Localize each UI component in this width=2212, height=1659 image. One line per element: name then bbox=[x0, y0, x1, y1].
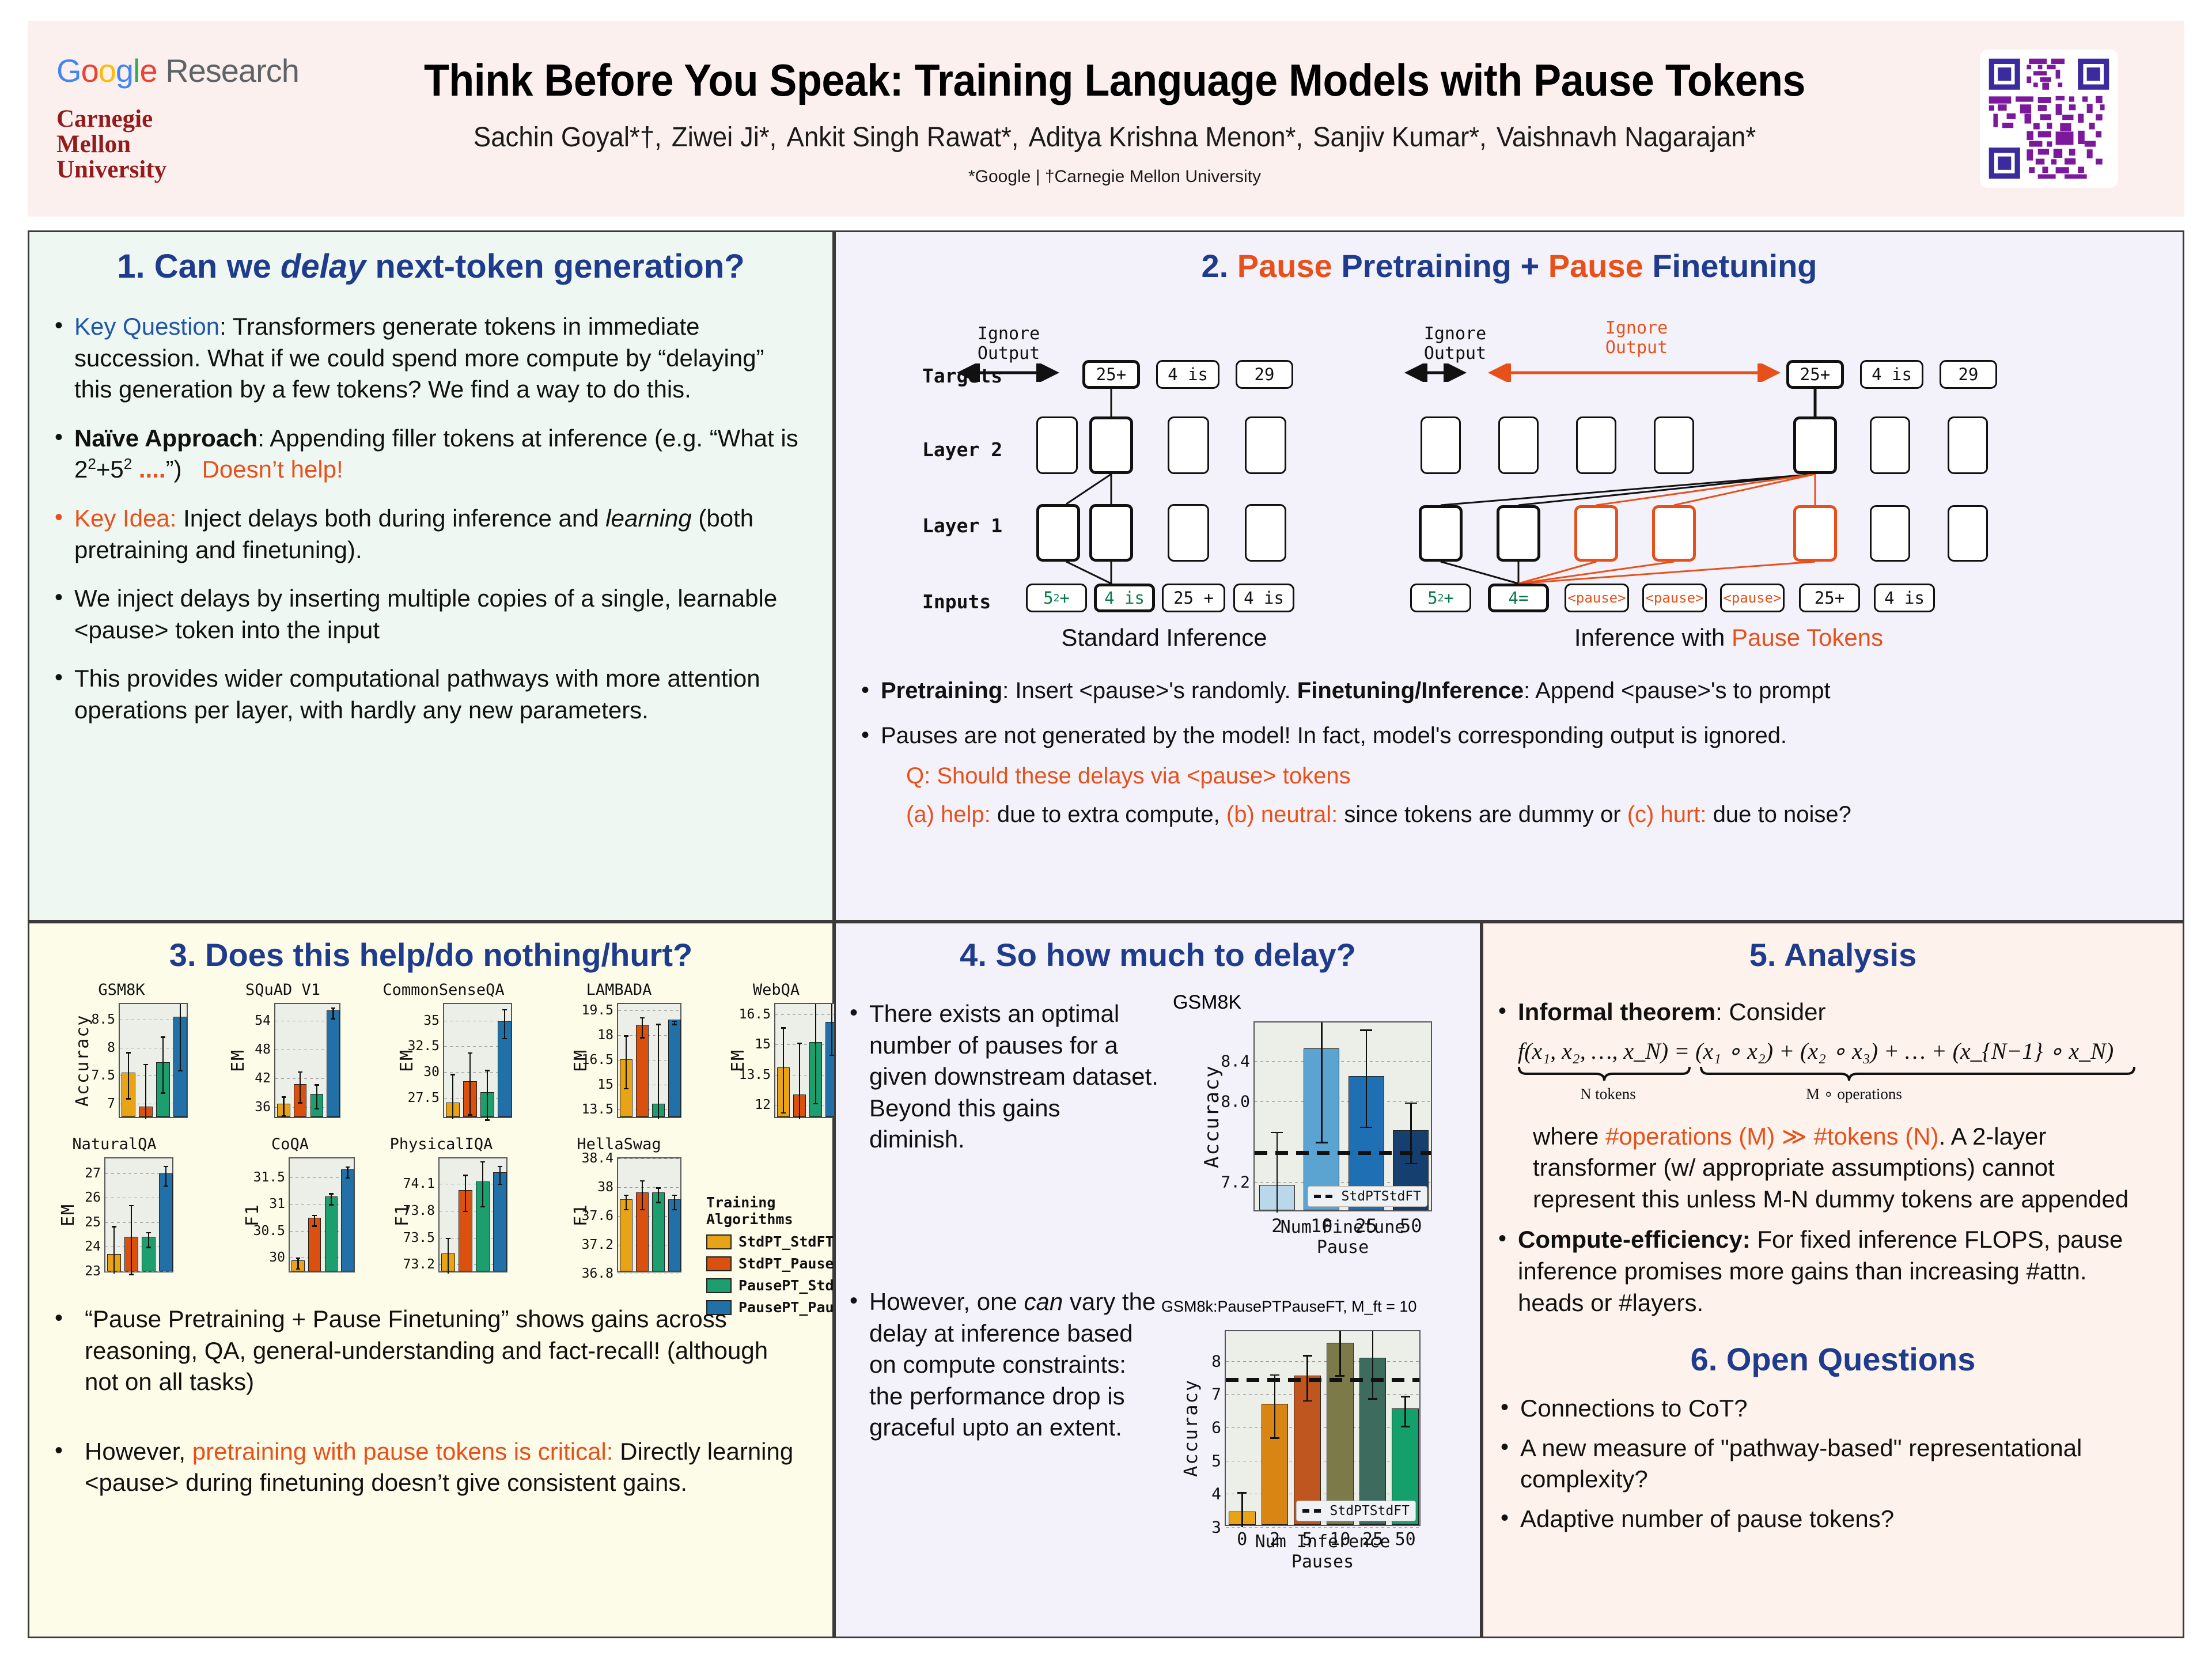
y-axis-tick: 25 bbox=[85, 1215, 101, 1230]
y-axis-label: EM bbox=[397, 1003, 417, 1118]
layer2-cell-active bbox=[1793, 416, 1837, 474]
bullet-dot-icon: • bbox=[55, 583, 74, 646]
y-axis-tick: 8.5 bbox=[91, 1012, 115, 1027]
panel-1-bullets: • Key Question: Transformers generate to… bbox=[29, 311, 832, 726]
bullet-dot-icon: • bbox=[850, 998, 869, 1156]
error-bar bbox=[674, 1195, 676, 1209]
bar bbox=[341, 1169, 354, 1271]
y-axis-tick: 5 bbox=[1211, 1451, 1221, 1470]
legend-swatch bbox=[706, 1278, 732, 1293]
layer1-cell-active bbox=[1497, 505, 1540, 562]
y-axis-tick: 4 bbox=[1211, 1484, 1221, 1503]
error-cap bbox=[672, 1195, 676, 1196]
y-axis-tick: 42 bbox=[255, 1071, 271, 1086]
error-cap bbox=[329, 1204, 334, 1206]
error-bar bbox=[1321, 1022, 1323, 1142]
error-cap bbox=[161, 1092, 165, 1094]
bullet-dot-icon: • bbox=[861, 676, 881, 706]
grid-line bbox=[1255, 1061, 1431, 1062]
chart-plot-area: 345678025102550StdPTStdFT bbox=[1225, 1330, 1421, 1526]
grid-line bbox=[1226, 1361, 1419, 1362]
bar bbox=[652, 1192, 665, 1272]
error-bar bbox=[448, 1238, 449, 1274]
bullet-pre: However, one bbox=[869, 1288, 1024, 1315]
input-token: 52+ bbox=[1026, 584, 1087, 612]
bullet-dot-icon: • bbox=[861, 721, 881, 751]
list-item: • Naïve Approach: Appending filler token… bbox=[55, 423, 807, 486]
chart-title: GSM8k:PausePTPauseFT, M_ft = 10 bbox=[1161, 1298, 1467, 1316]
error-cap bbox=[331, 1018, 336, 1020]
y-axis-tick: 7.2 bbox=[1221, 1173, 1250, 1192]
error-bar bbox=[504, 1009, 506, 1038]
chart-plot-area: 3030.53131.5 bbox=[289, 1157, 355, 1272]
error-cap bbox=[282, 1115, 286, 1117]
error-cap bbox=[164, 1166, 168, 1168]
author-5: Vaishnavh Nagarajan* bbox=[1497, 122, 1756, 153]
bullet-text: There exists an optimal number of pauses… bbox=[869, 998, 1161, 1156]
chart-title: CoQA bbox=[219, 1135, 361, 1153]
bullet-lead: Pretraining bbox=[881, 678, 1002, 703]
poster-root: Google Research Carnegie Mellon Universi… bbox=[0, 0, 2212, 1659]
poster-header: Google Research Carnegie Mellon Universi… bbox=[28, 21, 2184, 217]
list-item: • A new measure of "pathway-based" repre… bbox=[1501, 1433, 2165, 1495]
target-token: 4 is bbox=[1156, 360, 1219, 389]
y-axis-tick: 8 bbox=[1211, 1351, 1221, 1370]
bullet-tail-orange: Doesn’t help! bbox=[202, 456, 343, 483]
error-cap bbox=[640, 1037, 644, 1039]
target-token: 29 bbox=[1236, 360, 1293, 389]
pause-token-diagram: Targets Layer 2 Layer 1 Inputs IgnoreOut… bbox=[836, 232, 2183, 630]
error-cap bbox=[446, 1238, 450, 1240]
option-b-label: (b) neutral: bbox=[1226, 802, 1338, 827]
grid-line bbox=[618, 1274, 680, 1274]
layer1-cell bbox=[1245, 504, 1286, 562]
bullet-lead: Naïve Approach bbox=[74, 425, 257, 452]
cmu-logo: Carnegie Mellon University bbox=[56, 107, 316, 183]
error-cap bbox=[282, 1096, 286, 1098]
error-cap bbox=[1335, 1375, 1344, 1377]
layer2-cell bbox=[1498, 416, 1539, 474]
author-2: Ankit Singh Rawat*, bbox=[786, 122, 1018, 153]
list-item: • Connections to CoT? bbox=[1501, 1393, 2165, 1425]
bullet-text: Connections to CoT? bbox=[1520, 1393, 2165, 1425]
title-block: Think Before You Speak: Training Languag… bbox=[316, 51, 1914, 187]
error-cap bbox=[312, 1215, 317, 1217]
layer1-cell-active bbox=[1036, 504, 1080, 562]
layer1-cell bbox=[1870, 505, 1910, 562]
list-item: • Pretraining: Insert <pause>'s randomly… bbox=[861, 676, 2157, 706]
error-bar bbox=[482, 1161, 484, 1206]
input-token: 25+ bbox=[1799, 584, 1860, 612]
error-cap bbox=[126, 1052, 131, 1054]
y-axis-label: Accuracy bbox=[1180, 1330, 1202, 1526]
error-cap bbox=[640, 1180, 644, 1182]
google-research-label: Research bbox=[165, 52, 299, 89]
bar bbox=[325, 1196, 338, 1271]
y-axis-tick: 8.4 bbox=[1221, 1051, 1250, 1070]
error-cap bbox=[146, 1232, 151, 1234]
bullet-dot-icon: • bbox=[1501, 1393, 1520, 1425]
baseline-legend: StdPTStdFT bbox=[1308, 1186, 1427, 1207]
panel-1-title-post: next-token generation? bbox=[366, 248, 744, 285]
error-cap bbox=[1360, 1127, 1372, 1128]
chart-csqa: CommonSenseQA27.53032.535EM bbox=[369, 981, 518, 999]
y-axis-tick: 36 bbox=[255, 1100, 271, 1115]
bullet-lead: Informal theorem bbox=[1518, 998, 1715, 1025]
panel-5-analysis: 5. Analysis • Informal theorem: Consider… bbox=[1482, 922, 2184, 1638]
error-bar bbox=[347, 1166, 349, 1177]
author-4: Sanjiv Kumar*, bbox=[1313, 122, 1487, 153]
layer2-cell bbox=[1036, 416, 1078, 474]
error-cap bbox=[672, 1021, 676, 1022]
error-bar bbox=[1372, 1331, 1374, 1398]
error-cap bbox=[315, 1084, 319, 1086]
bullet-text-2: : Append <pause>'s to prompt bbox=[1524, 678, 1830, 703]
row-label-layer1: Layer 1 bbox=[922, 514, 1002, 537]
error-cap bbox=[346, 1166, 350, 1168]
error-bar bbox=[487, 1070, 488, 1119]
y-axis-tick: 18 bbox=[597, 1028, 613, 1043]
grid-line bbox=[1226, 1527, 1419, 1528]
error-cap bbox=[656, 1187, 660, 1189]
error-cap bbox=[656, 1202, 660, 1203]
layer1-cell-pause bbox=[1793, 505, 1837, 562]
qr-code-icon[interactable] bbox=[1980, 50, 2118, 188]
input-token-active: 4= bbox=[1488, 584, 1549, 612]
y-axis-tick: 24 bbox=[85, 1239, 101, 1254]
legend-dash-icon bbox=[1314, 1195, 1337, 1198]
error-cap bbox=[126, 1098, 131, 1100]
bullet-lead: Key Question bbox=[74, 313, 219, 340]
error-cap bbox=[640, 1209, 644, 1211]
error-cap bbox=[298, 1071, 302, 1073]
error-cap bbox=[502, 1038, 507, 1040]
error-bar bbox=[658, 1024, 660, 1119]
bullet-text: Pauses are not generated by the model! I… bbox=[881, 721, 2157, 751]
error-cap bbox=[1303, 1400, 1312, 1402]
error-bar bbox=[332, 1007, 334, 1018]
error-cap bbox=[146, 1247, 151, 1248]
chart-title: SQuAD V1 bbox=[219, 981, 346, 999]
legend-label: StdPTStdFT bbox=[1330, 1503, 1410, 1518]
baseline-legend: StdPTStdFT bbox=[1296, 1501, 1416, 1521]
bullet-text: : Consider bbox=[1715, 998, 1825, 1025]
chart-gsm8k-inference: GSM8k:PausePTPauseFT, M_ft = 10345678025… bbox=[1161, 1298, 1467, 1620]
input-token-pause: <pause> bbox=[1565, 584, 1629, 612]
error-cap bbox=[1237, 1492, 1247, 1494]
y-axis-tick: 8 bbox=[107, 1040, 115, 1055]
panel-4-title: 4. So how much to delay? bbox=[836, 936, 1480, 974]
legend-swatch bbox=[706, 1234, 732, 1249]
chart-plot-area: 77.588.5 bbox=[119, 1003, 188, 1118]
chart-title: NaturalQA bbox=[50, 1135, 179, 1153]
diagram-caption-right: Inference with Pause Tokens bbox=[1469, 624, 1988, 652]
y-axis-tick: 54 bbox=[255, 1013, 271, 1028]
error-cap bbox=[463, 1175, 468, 1176]
ignore-output-label-left: IgnoreOutput bbox=[960, 324, 1058, 363]
bullet-text: “Pause Pretraining + Pause Finetuning” s… bbox=[74, 1304, 807, 1398]
layer2-cell-active bbox=[1089, 416, 1133, 474]
grid-line bbox=[1226, 1461, 1419, 1461]
error-cap bbox=[498, 1166, 502, 1168]
y-axis-label: F1 bbox=[571, 1157, 591, 1272]
author-1: Ziwei Ji*, bbox=[672, 122, 777, 153]
error-bar bbox=[316, 1084, 318, 1108]
chart-lambada: LAMBADA13.51516.51819.5EM bbox=[551, 981, 687, 999]
grid-line bbox=[1226, 1494, 1419, 1494]
error-cap bbox=[329, 1193, 334, 1195]
layer1-cell-active bbox=[1419, 505, 1463, 562]
layer2-cell bbox=[1245, 416, 1286, 474]
target-token: 25+ bbox=[1786, 360, 1844, 389]
list-item: • Key Question: Transformers generate to… bbox=[55, 311, 807, 406]
chart-title: WebQA bbox=[708, 981, 844, 999]
input-token-pause: <pause> bbox=[1720, 584, 1785, 612]
y-axis-tick: 12 bbox=[755, 1097, 771, 1112]
theorem-formula: f(x₁, x₂, …, x_N) = (x₁ ∘ x₂) + (x₂ ∘ x₃… bbox=[1518, 1037, 2152, 1065]
grid-line bbox=[1226, 1427, 1419, 1428]
option-c-label: (c) hurt: bbox=[1627, 802, 1707, 827]
caption-em: Pause Tokens bbox=[1732, 624, 1883, 651]
layer1-cell-pause bbox=[1652, 505, 1696, 562]
bullet-lead: Compute-efficiency: bbox=[1518, 1226, 1751, 1253]
y-axis-tick: 30 bbox=[423, 1065, 440, 1080]
row-label-layer2: Layer 2 bbox=[922, 438, 1002, 461]
y-axis-label: EM bbox=[58, 1157, 78, 1272]
list-item: • This provides wider computational path… bbox=[55, 663, 807, 726]
qr-code-wrap[interactable] bbox=[1914, 50, 2184, 188]
error-cap bbox=[797, 1043, 801, 1044]
bullet-pre: However, bbox=[85, 1438, 192, 1465]
bar bbox=[636, 1025, 649, 1117]
bullet-orange: pretraining with pause tokens is critica… bbox=[192, 1438, 613, 1465]
bar bbox=[159, 1173, 172, 1271]
chart-hellaswag: HellaSwag36.837.237.63838.4F1 bbox=[551, 1135, 687, 1153]
chart-plot-area: 36424854 bbox=[274, 1003, 340, 1118]
error-cap bbox=[813, 1103, 817, 1105]
error-cap bbox=[468, 1114, 472, 1116]
list-item: • “Pause Pretraining + Pause Finetuning”… bbox=[55, 1304, 807, 1398]
error-cap bbox=[672, 1209, 676, 1211]
panel-6-title: 6. Open Questions bbox=[1483, 1340, 2183, 1378]
y-axis-tick: 3 bbox=[1211, 1518, 1221, 1537]
y-axis-label: F1 bbox=[243, 1157, 263, 1272]
error-cap bbox=[1368, 1398, 1377, 1400]
chart-webqa: WebQA1213.51516.5EM bbox=[708, 981, 844, 999]
bullet-dot-icon: • bbox=[55, 1304, 74, 1398]
y-axis-tick: 7.5 bbox=[91, 1068, 115, 1083]
where-orange: #operations (M) ≫ #tokens (N) bbox=[1605, 1123, 1939, 1150]
chart-plot-area: 1213.51516.5 bbox=[774, 1003, 839, 1118]
panel-2-question: Q: Should these delays via <pause> token… bbox=[861, 763, 2157, 789]
error-bar bbox=[331, 1193, 332, 1204]
error-cap bbox=[1270, 1437, 1279, 1439]
error-cap bbox=[468, 1052, 472, 1054]
y-axis-tick: 8.0 bbox=[1221, 1092, 1250, 1111]
bullet-dot-icon: • bbox=[55, 311, 74, 406]
cmu-line-3: University bbox=[56, 157, 316, 183]
error-cap bbox=[346, 1177, 350, 1179]
bullet-lead: Key Idea: bbox=[74, 505, 176, 532]
error-bar bbox=[297, 1257, 299, 1268]
input-token: 25 + bbox=[1162, 584, 1225, 612]
bullet-lead-2: Finetuning/Inference bbox=[1297, 678, 1524, 703]
ignore-arrow-right-black bbox=[1403, 363, 1472, 382]
ignore-arrow-left bbox=[957, 363, 1060, 382]
error-cap bbox=[498, 1184, 502, 1185]
panel-3-results: 3. Does this help/do nothing/hurt? GSM8K… bbox=[28, 922, 834, 1638]
error-bar bbox=[1241, 1492, 1243, 1527]
grid-line bbox=[618, 1187, 680, 1188]
error-cap bbox=[312, 1225, 317, 1227]
legend-dash-icon bbox=[1302, 1509, 1325, 1513]
grid-line bbox=[775, 1014, 838, 1015]
error-bar bbox=[799, 1043, 801, 1119]
poster-title: Think Before You Speak: Training Languag… bbox=[380, 54, 1850, 107]
error-cap bbox=[624, 1035, 628, 1037]
chart-gsm8k: GSM8K77.588.5Accuracy bbox=[50, 981, 194, 999]
grid-line bbox=[618, 1010, 680, 1011]
panel-2-bullets: • Pretraining: Insert <pause>'s randomly… bbox=[836, 676, 2183, 828]
error-cap bbox=[624, 1209, 628, 1211]
layer1-cell-active bbox=[1089, 504, 1133, 562]
bullet-text: A new measure of "pathway-based" represe… bbox=[1520, 1433, 2165, 1495]
chart-piqa: PhysicalIQA73.273.573.874.1F1 bbox=[369, 1135, 513, 1153]
error-bar bbox=[1404, 1396, 1406, 1426]
y-axis-label: Accuracy bbox=[1200, 1021, 1224, 1211]
target-token: 29 bbox=[1940, 360, 1997, 389]
grid-line bbox=[618, 1158, 680, 1159]
bullet-dot-icon: • bbox=[1498, 1224, 1518, 1319]
error-cap bbox=[502, 1009, 507, 1011]
list-item: • However, pretraining with pause tokens… bbox=[55, 1436, 807, 1499]
error-cap bbox=[1405, 1163, 1417, 1165]
list-item: • However, one can vary the delay at inf… bbox=[850, 1286, 1161, 1444]
error-bar bbox=[283, 1096, 285, 1115]
y-axis-tick: 30 bbox=[269, 1250, 285, 1265]
chart-plot-area: 73.273.573.874.1 bbox=[438, 1157, 507, 1272]
option-c-text: due to noise? bbox=[1707, 802, 1851, 827]
error-bar bbox=[626, 1035, 627, 1088]
panel-1-delay: 1. Can we delay next-token generation? •… bbox=[28, 230, 834, 922]
bullet-text: We inject delays by inserting multiple c… bbox=[74, 583, 807, 646]
grid-line bbox=[1226, 1394, 1419, 1395]
chart-plot-area: 27.53032.535 bbox=[443, 1003, 512, 1118]
ignore-arrow-right-orange bbox=[1487, 363, 1786, 382]
author-3: Aditya Krishna Menon*, bbox=[1029, 122, 1304, 153]
logo-group: Google Research Carnegie Mellon Universi… bbox=[28, 55, 316, 183]
error-bar bbox=[499, 1166, 501, 1184]
error-bar bbox=[815, 1004, 817, 1103]
y-axis-tick: 15 bbox=[597, 1077, 613, 1092]
error-cap bbox=[1271, 1132, 1283, 1134]
error-cap bbox=[480, 1161, 485, 1163]
error-bar bbox=[465, 1175, 467, 1211]
bar bbox=[668, 1020, 681, 1117]
error-cap bbox=[672, 1024, 676, 1025]
y-axis-tick: 23 bbox=[85, 1264, 101, 1279]
theorem-where-text: where #operations (M) ≫ #tokens (N). A 2… bbox=[1533, 1121, 2143, 1215]
panel-1-title: 1. Can we delay next-token generation? bbox=[29, 247, 832, 286]
error-cap bbox=[624, 1195, 628, 1196]
list-item: • Adaptive number of pause tokens? bbox=[1501, 1503, 2165, 1535]
chart-title: CommonSenseQA bbox=[369, 981, 518, 999]
panel-6-bullets: • Connections to CoT? • A new measure of… bbox=[1483, 1393, 2183, 1535]
y-axis-tick: 6 bbox=[1211, 1418, 1221, 1437]
chart-gsm8k-finetune: GSM8K7.28.08.42102550StdPTStdFTAccuracyN… bbox=[1173, 991, 1461, 1274]
panel-2-options: (a) help: due to extra compute, (b) neut… bbox=[861, 802, 2157, 828]
chart-coqa: CoQA3030.53131.5F1 bbox=[219, 1135, 361, 1153]
brace-label-left: N tokens bbox=[1580, 1085, 1636, 1103]
error-cap bbox=[450, 1074, 455, 1075]
error-cap bbox=[640, 1017, 644, 1019]
error-cap bbox=[164, 1185, 168, 1187]
y-axis-tick: 7 bbox=[1211, 1385, 1221, 1404]
y-axis-label: F1 bbox=[392, 1157, 412, 1272]
layer2-cell bbox=[1870, 416, 1910, 474]
bullet-dot-icon: • bbox=[1498, 997, 1518, 1028]
y-axis-label: Accuracy bbox=[73, 1003, 93, 1118]
error-cap bbox=[161, 1036, 165, 1038]
error-cap bbox=[624, 1088, 628, 1090]
baseline-dashed-line bbox=[1226, 1378, 1419, 1382]
ignore-output-label-right-black: IgnoreOutput bbox=[1406, 324, 1504, 363]
affiliation: *Google | †Carnegie Mellon University bbox=[316, 167, 1914, 187]
chart-plot-area: 13.51516.51819.5 bbox=[617, 1003, 681, 1118]
bullet-dot-icon: • bbox=[55, 663, 74, 726]
panel-1-title-em: delay bbox=[281, 248, 366, 285]
error-cap bbox=[1405, 1103, 1417, 1104]
option-a-text: due to extra compute, bbox=[991, 802, 1226, 827]
y-axis-tick: 27 bbox=[85, 1166, 101, 1181]
panel-5-title: 5. Analysis bbox=[1483, 936, 2183, 974]
brace-label-right: M ∘ operations bbox=[1806, 1085, 1902, 1103]
layer1-cell-pause bbox=[1574, 505, 1618, 562]
error-cap bbox=[143, 1064, 148, 1066]
error-cap bbox=[480, 1206, 485, 1208]
theorem-formula-block: f(x₁, x₂, …, x_N) = (x₁ ∘ x₂) + (x₂ ∘ x₃… bbox=[1518, 1037, 2152, 1106]
caption-pre: Inference with bbox=[1574, 624, 1732, 651]
error-cap bbox=[296, 1257, 301, 1259]
x-axis-label: Num Finetune Pause bbox=[1253, 1217, 1432, 1257]
error-bar bbox=[469, 1052, 471, 1114]
bar bbox=[327, 1010, 339, 1117]
chart-title: GSM8K bbox=[50, 981, 194, 999]
error-cap bbox=[178, 1070, 183, 1072]
error-bar bbox=[452, 1074, 454, 1119]
chart-plot-area: 2324252627 bbox=[104, 1157, 173, 1272]
error-cap bbox=[315, 1108, 319, 1110]
cmu-line-2: Mellon bbox=[56, 132, 316, 157]
chart-plot-area: 36.837.237.63838.4 bbox=[617, 1157, 681, 1272]
author-0: Sachin Goyal*†, bbox=[474, 122, 662, 153]
layer1-cell bbox=[1948, 505, 1988, 562]
input-token: 52+ bbox=[1410, 584, 1471, 612]
error-bar bbox=[300, 1071, 301, 1102]
legend-label: StdPT_StdFT bbox=[738, 1233, 834, 1250]
chart-naturalqa: NaturalQA2324252627EM bbox=[50, 1135, 179, 1153]
error-cap bbox=[781, 1027, 785, 1029]
error-bar bbox=[1339, 1331, 1341, 1375]
panel-1-title-pre: 1. Can we bbox=[117, 248, 281, 285]
input-token: 4 is bbox=[1233, 584, 1294, 612]
author-list: Sachin Goyal*†,Ziwei Ji*,Ankit Singh Raw… bbox=[355, 122, 1873, 153]
error-cap bbox=[1316, 1142, 1328, 1143]
error-cap bbox=[1360, 1029, 1372, 1031]
bullet-dot-icon: • bbox=[1501, 1503, 1520, 1535]
error-cap bbox=[331, 1007, 336, 1009]
y-axis-label: EM bbox=[571, 1003, 591, 1118]
